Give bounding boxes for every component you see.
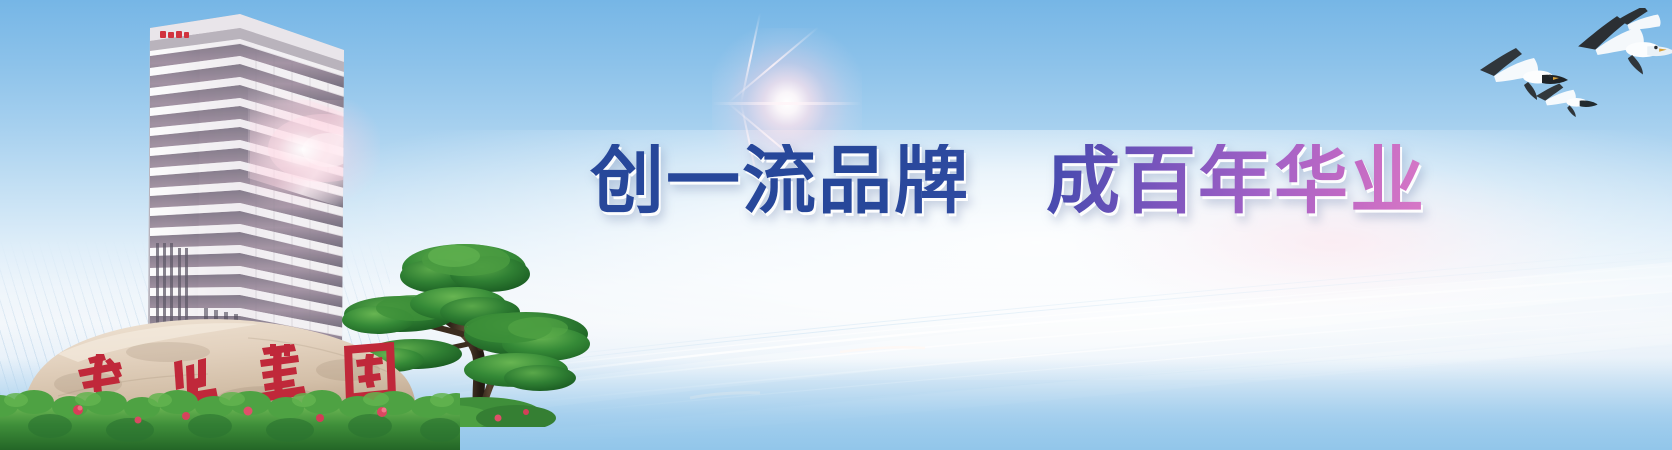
hedge-row (0, 380, 460, 450)
seagull-icon (1536, 84, 1598, 118)
high-rise-building (128, 8, 358, 348)
slogan-text: 创一流品牌 成百年华业 (590, 136, 1426, 226)
seagulls-group (1380, 8, 1672, 128)
slogan-label: 创一流品牌 成百年华业 (590, 144, 1426, 218)
corporate-banner: 创一流品牌 成百年华业 (0, 0, 1672, 450)
seagull-icon (1618, 8, 1661, 30)
